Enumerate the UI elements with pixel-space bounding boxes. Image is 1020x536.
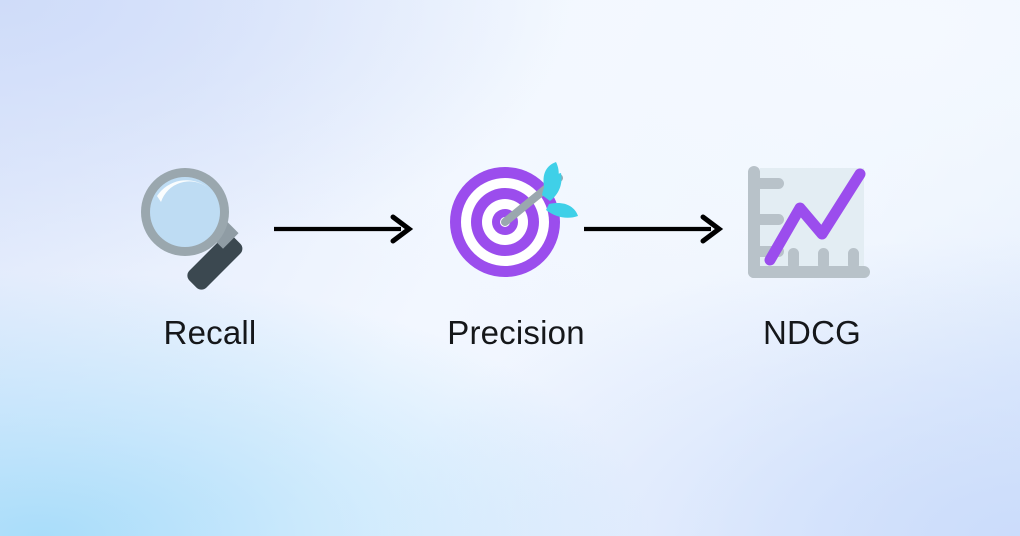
diagram-canvas: Recall [0, 0, 1020, 536]
node-label-precision: Precision [447, 314, 585, 352]
line-chart-icon [742, 160, 882, 300]
target-dartboard-icon [445, 160, 585, 300]
connector-arrow-precision-to-ndcg [582, 212, 728, 246]
metrics-pipeline: Recall [0, 0, 1020, 536]
node-label-recall: Recall [164, 314, 257, 352]
pipeline-node-ndcg[interactable]: NDCG [742, 160, 882, 352]
magnifying-glass-icon [131, 160, 271, 300]
pipeline-node-recall[interactable]: Recall [131, 160, 271, 352]
pipeline-node-precision[interactable]: Precision [445, 160, 585, 352]
connector-arrow-recall-to-precision [272, 212, 418, 246]
node-label-ndcg: NDCG [763, 314, 861, 352]
